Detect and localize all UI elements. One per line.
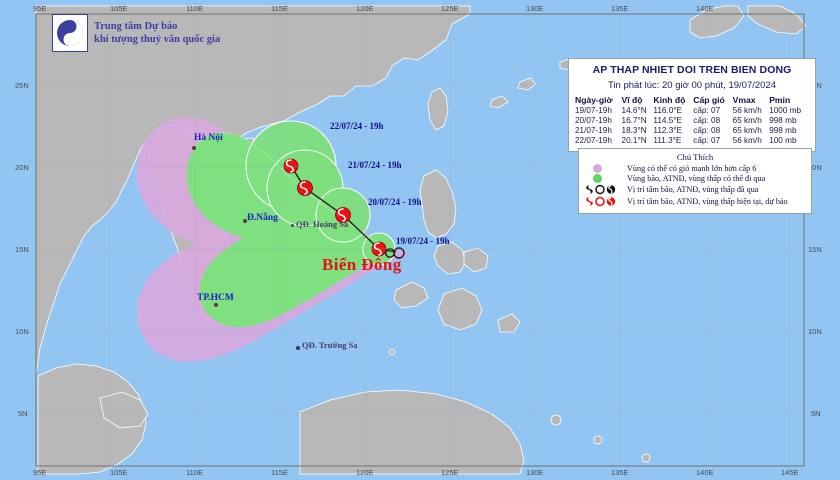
map-legend: Chú Thích Vùng có thể có gió mạnh lớn hơ… — [578, 148, 812, 214]
legend-title: Chú Thích — [584, 152, 806, 162]
cell-datetime: 22/07-19h — [575, 136, 622, 146]
green-dot-icon — [584, 174, 622, 183]
tick-lon-top-7: 130E — [526, 4, 544, 13]
cell-datetime: 20/07-19h — [575, 116, 622, 126]
forecast-table: Ngày-giờ Vĩ độ Kinh độ Cấp gió Vmax Pmin… — [575, 94, 809, 146]
tick-lon-bot-9: 140E — [696, 468, 714, 477]
cyclone-marker-22-07 — [284, 159, 298, 173]
island-dot-truongsa — [296, 346, 300, 350]
tick-lat-right-3: 10N — [808, 327, 822, 336]
legend-label-purple: Vùng có thể có gió mạnh lớn hơn cấp 6 — [627, 164, 756, 173]
col-windlevel: Cấp gió — [693, 94, 732, 106]
cell-cap: cấp: 07 — [693, 136, 732, 146]
logo-yinyang-icon — [55, 18, 85, 48]
island-label-hoangsa: QĐ. Hoàng Sa — [296, 219, 348, 229]
cell-vmax: 56 km/h — [733, 136, 770, 146]
cell-pmin: 1000 mb — [769, 106, 809, 116]
tick-lat-left-4: 5N — [18, 409, 28, 418]
table-row: 19/07-19h 14.6°N 116.0°E cấp: 07 56 km/h… — [575, 106, 809, 116]
cell-cap: cấp: 07 — [693, 106, 732, 116]
island-label-truongsa: QĐ. Trường Sa — [302, 340, 358, 350]
purple-dot-icon — [584, 164, 622, 173]
cell-pmin: 100 mb — [769, 136, 809, 146]
tick-lat-left-0: 25N — [15, 81, 29, 90]
track-label-21-07: 21/07/24 - 19h — [348, 160, 402, 170]
col-datetime: Ngày-giờ — [575, 94, 622, 106]
cyclone-marker-21-07 — [298, 181, 313, 196]
tick-lon-bot-5: 120E — [356, 468, 374, 477]
legend-item-green-zone: Vùng bão, ATNĐ, vùng thấp có thể đi qua — [584, 174, 806, 183]
tick-lon-top-5: 120E — [356, 4, 374, 13]
col-longitude: Kinh độ — [653, 94, 693, 106]
sea-label-bien-dong: Biển Đông — [322, 255, 402, 275]
tick-lon-bot-4: 115E — [271, 468, 288, 477]
city-dot-tphcm — [214, 303, 218, 307]
legend-label-past: Vị trí tâm bão, ATNĐ, vùng thấp đã qua — [627, 185, 758, 194]
cell-lon: 111.3°E — [653, 136, 693, 146]
storm-info-issue-time: Tin phát lúc: 20 giờ 00 phút, 19/07/2024 — [575, 80, 809, 91]
track-label-19-07: 19/07/24 - 19h — [396, 236, 450, 246]
city-label-tphcm: TP.HCM — [197, 293, 234, 303]
tick-lon-top-3: 110E — [186, 4, 203, 13]
red-cyclone-icons — [584, 196, 622, 207]
cell-lon: 116.0°E — [653, 106, 693, 116]
tick-lat-left-1: 20N — [15, 163, 29, 172]
red-cyclone-set-icon — [584, 196, 622, 207]
storm-info-title: AP THAP NHIET DOI TREN BIEN DONG — [575, 64, 809, 78]
tick-lon-top-4: 115E — [271, 4, 288, 13]
legend-label-green: Vùng bão, ATNĐ, vùng thấp có thể đi qua — [627, 174, 765, 183]
agency-logo: Trung tâm Dự báo khí tượng thuỷ văn quốc… — [52, 14, 220, 52]
weather-map-screenshot: Hà Nội Đ.Nẵng TP.HCM QĐ. Hoàng Sa QĐ. Tr… — [0, 0, 840, 480]
city-dot-hanoi — [192, 146, 196, 150]
island-dot-hoangsa — [291, 224, 294, 227]
cell-vmax: 65 km/h — [733, 116, 770, 126]
cell-lon: 112.3°E — [653, 126, 693, 136]
black-cyclone-set-icon — [584, 184, 622, 195]
cell-cap: cấp: 08 — [693, 126, 732, 136]
legend-item-purple-zone: Vùng có thể có gió mạnh lớn hơn cấp 6 — [584, 164, 806, 173]
tick-lat-right-4: 5N — [811, 409, 821, 418]
tick-lon-top-6: 125E — [441, 4, 459, 13]
black-cyclone-icons — [584, 184, 622, 195]
tick-lon-bot-6: 125E — [441, 468, 459, 477]
table-row: 21/07-19h 18.3°N 112.3°E cấp: 08 65 km/h… — [575, 126, 809, 136]
cell-datetime: 19/07-19h — [575, 106, 622, 116]
tick-lon-top-9: 140E — [696, 4, 714, 13]
tick-lon-top-2: 105E — [110, 4, 128, 13]
track-label-20-07: 20/07/24 - 19h — [368, 197, 422, 207]
agency-name: Trung tâm Dự báo khí tượng thuỷ văn quốc… — [94, 20, 220, 46]
cell-vmax: 65 km/h — [733, 126, 770, 136]
tick-lon-bot-7: 130E — [526, 468, 544, 477]
agency-name-line1: Trung tâm Dự báo — [94, 20, 220, 33]
cell-cap: cấp: 08 — [693, 116, 732, 126]
tick-lon-bot-10: 145E — [781, 468, 799, 477]
cell-lat: 20.1°N — [622, 136, 654, 146]
cell-pmin: 998 mb — [769, 116, 809, 126]
col-latitude: Vĩ độ — [622, 94, 654, 106]
tick-lon-top-0: 95E — [33, 4, 46, 13]
agency-name-line2: khí tượng thuỷ văn quốc gia — [94, 33, 220, 46]
tick-lat-left-2: 15N — [15, 245, 29, 254]
track-label-22-07: 22/07/24 - 19h — [330, 121, 384, 131]
tick-lon-bot-3: 110E — [186, 468, 203, 477]
table-row: 20/07-19h 16.7°N 114.5°E cấp: 08 65 km/h… — [575, 116, 809, 126]
tick-lon-bot-8: 135E — [611, 468, 629, 477]
cell-datetime: 21/07-19h — [575, 126, 622, 136]
city-label-hanoi: Hà Nội — [194, 133, 223, 143]
legend-item-current-forecast: Vị trí tâm bão, ATNĐ, vùng thấp hiện tại… — [584, 196, 806, 207]
legend-label-current: Vị trí tâm bão, ATNĐ, vùng thấp hiện tại… — [627, 197, 788, 206]
legend-item-past-positions: Vị trí tâm bão, ATNĐ, vùng thấp đã qua — [584, 184, 806, 195]
tick-lon-top-8: 135E — [611, 4, 629, 13]
table-row: 22/07-19h 20.1°N 111.3°E cấp: 07 56 km/h… — [575, 136, 809, 146]
tick-lat-left-3: 10N — [15, 327, 29, 336]
nchmf-logo-icon — [52, 14, 88, 52]
cell-lat: 18.3°N — [622, 126, 654, 136]
tick-lat-right-2: 15N — [808, 245, 822, 254]
cell-lon: 114.5°E — [653, 116, 693, 126]
col-pmin: Pmin — [769, 94, 809, 106]
cell-lat: 14.6°N — [622, 106, 654, 116]
col-vmax: Vmax — [733, 94, 770, 106]
tick-lon-bot-2: 105E — [110, 468, 128, 477]
cell-lat: 16.7°N — [622, 116, 654, 126]
cell-pmin: 998 mb — [769, 126, 809, 136]
tick-lon-bot-0: 95E — [33, 468, 46, 477]
forecast-table-header-row: Ngày-giờ Vĩ độ Kinh độ Cấp gió Vmax Pmin — [575, 94, 809, 106]
storm-info-panel: AP THAP NHIET DOI TREN BIEN DONG Tin phá… — [568, 58, 816, 152]
city-label-danang: Đ.Nẵng — [247, 213, 278, 223]
cell-vmax: 56 km/h — [733, 106, 770, 116]
